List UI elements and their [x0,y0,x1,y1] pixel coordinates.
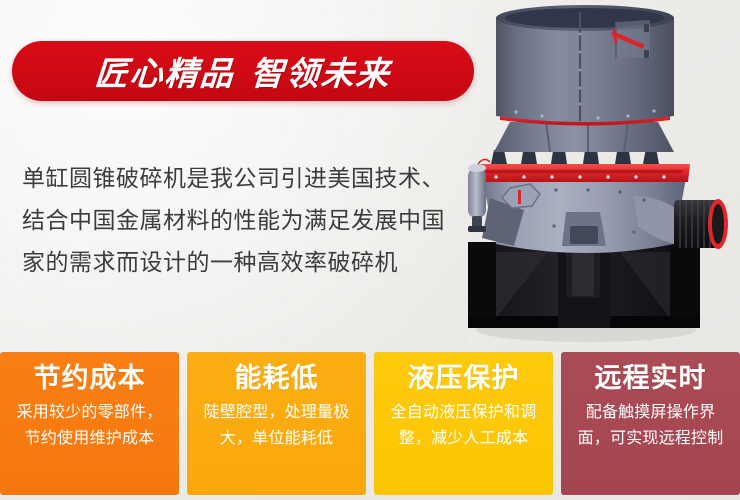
feature-card-description: 采用较少的零部件，节约使用维护成本 [10,400,169,452]
feature-card-list: 节约成本 采用较少的零部件，节约使用维护成本 能耗低 陡壁腔型，处理量极大，单位… [0,352,740,495]
feature-card-hydraulic-protection[interactable]: 液压保护 全自动液压保护和调整，减少人工成本 [374,352,553,495]
cone-crusher-illustration [438,0,740,350]
feature-card-description: 全自动液压保护和调整，减少人工成本 [384,400,543,452]
feature-card-title: 节约成本 [10,360,169,396]
feature-card-title: 能耗低 [197,360,356,396]
feature-card-remote-realtime[interactable]: 远程实时 配备触摸屏操作界面，可实现远程控制 [561,352,740,495]
feature-card-cost-saving[interactable]: 节约成本 采用较少的零部件，节约使用维护成本 [0,352,179,495]
headline-banner: 匠心精品智领未来 [12,41,474,101]
feature-card-title: 远程实时 [571,360,730,396]
headline-right: 智领未来 [249,54,392,93]
feature-card-low-energy[interactable]: 能耗低 陡壁腔型，处理量极大，单位能耗低 [187,352,366,495]
feature-card-title: 液压保护 [384,360,543,396]
feature-card-description: 陡壁腔型，处理量极大，单位能耗低 [197,400,356,452]
discharge-pipe [674,199,728,249]
product-poster: 匠心精品智领未来 单缸圆锥破碎机是我公司引进美国技术、结合中国金属材料的性能为满… [0,0,740,500]
feature-card-description: 配备触摸屏操作界面，可实现远程控制 [571,400,730,452]
cone-crusher-image [438,0,740,350]
product-description: 单缸圆锥破碎机是我公司引进美国技术、结合中国金属材料的性能为满足发展中国家的需求… [22,157,452,283]
headline-text: 匠心精品智领未来 [93,47,392,95]
headline-left: 匠心精品 [93,54,236,93]
crusher-body [482,178,686,253]
main-red-flange [478,164,690,182]
upper-frame [494,122,674,152]
feed-hopper [496,5,674,122]
